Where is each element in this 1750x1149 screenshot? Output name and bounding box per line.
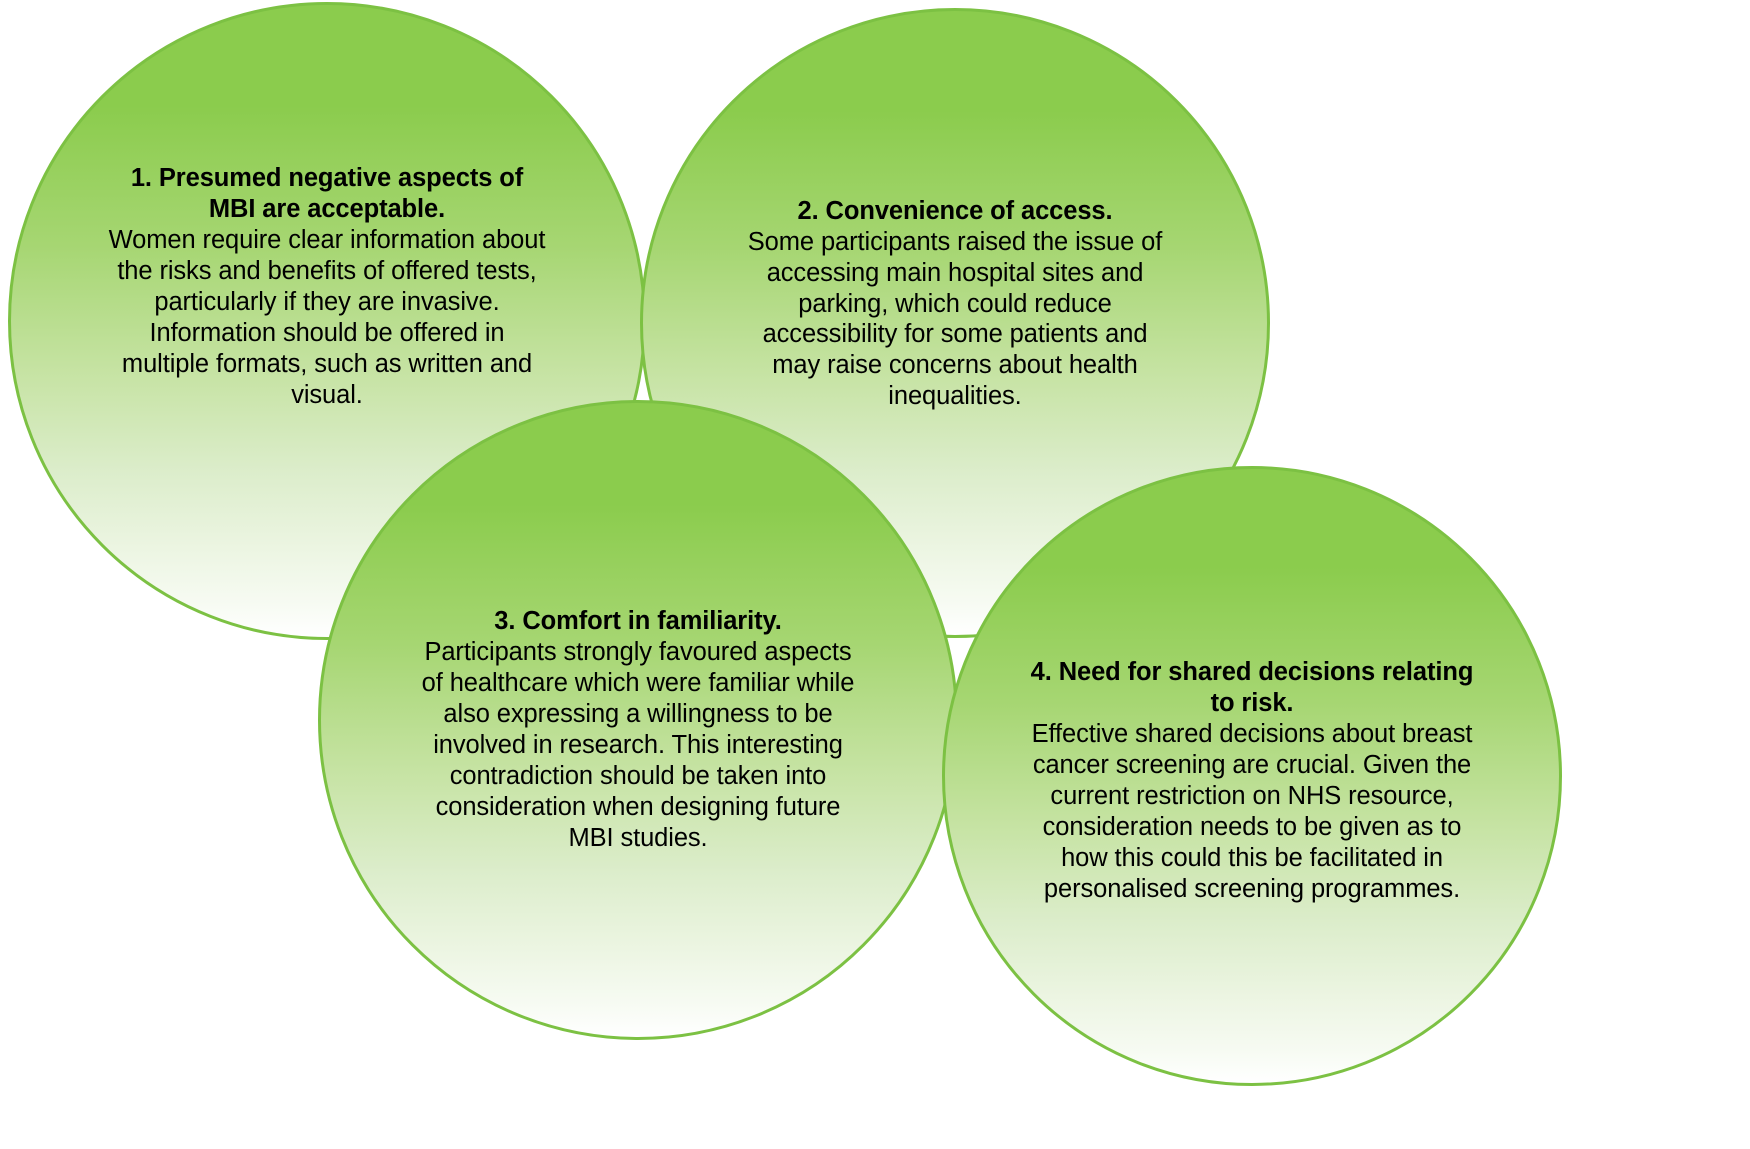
circle-1-body: Women require clear information about th… xyxy=(106,225,548,411)
circle-3-text: 3. Comfort in familiarity. Participants … xyxy=(416,606,860,854)
diagram-canvas: 1. Presumed negative aspects of MBI are … xyxy=(0,0,1750,1149)
circle-4-text: 4. Need for shared decisions relating to… xyxy=(1025,657,1479,905)
circle-node-3: 3. Comfort in familiarity. Participants … xyxy=(318,400,958,1040)
circle-2-body: Some participants raised the issue of ac… xyxy=(737,227,1174,413)
circle-node-4: 4. Need for shared decisions relating to… xyxy=(942,466,1562,1086)
circle-2-text: 2. Convenience of access. Some participa… xyxy=(737,196,1174,413)
circle-3-body: Participants strongly favoured aspects o… xyxy=(416,637,860,854)
circle-3-title: 3. Comfort in familiarity. xyxy=(416,606,860,637)
circle-1-title: 1. Presumed negative aspects of MBI are … xyxy=(106,163,548,225)
circle-2-title: 2. Convenience of access. xyxy=(737,196,1174,227)
circle-1-text: 1. Presumed negative aspects of MBI are … xyxy=(106,163,548,411)
circle-4-body: Effective shared decisions about breast … xyxy=(1025,719,1479,905)
circle-4-title: 4. Need for shared decisions relating to… xyxy=(1025,657,1479,719)
